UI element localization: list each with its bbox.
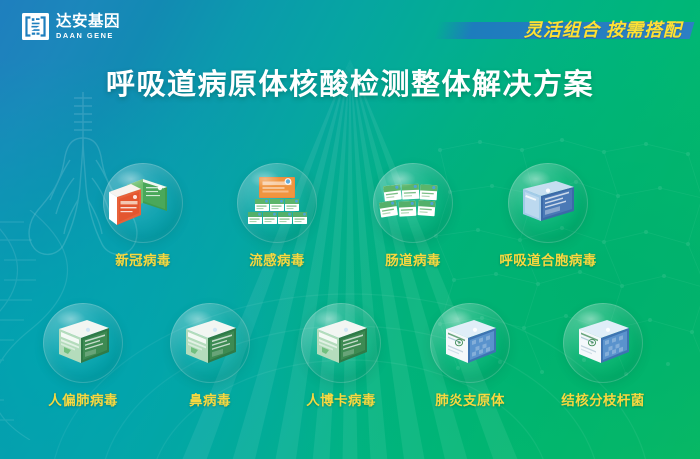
product-bubble [508,163,588,243]
product-label: 人偏肺病毒 [23,389,143,409]
product-label: 结核分枝杆菌 [543,389,663,409]
product-label: 新冠病毒 [83,249,203,269]
product-item-covid[interactable]: 新冠病毒 [83,163,203,269]
product-item-hmpv[interactable]: 人偏肺病毒 [23,303,143,409]
product-bubble [43,303,123,383]
product-box-covid-icon [107,167,179,239]
product-label: 肺炎支原体 [410,389,530,409]
poster-root: 达安基因 DAAN GENE 灵活组合 按需搭配 呼吸道病原体核酸检测整体解决方… [0,0,700,459]
product-box-rsv-icon [512,167,584,239]
product-box-enterovirus-icon [377,167,449,239]
product-label: 鼻病毒 [150,389,270,409]
product-bubble [170,303,250,383]
product-item-tuberculosis[interactable]: 结核分枝杆菌 [543,303,663,409]
product-bubble [103,163,183,243]
product-label: 人博卡病毒 [281,389,401,409]
product-box-rhinovirus-icon [174,307,246,379]
product-grid: 新冠病毒 [0,0,700,459]
product-item-influenza[interactable]: 流感病毒 [217,163,337,269]
product-item-bocavirus[interactable]: 人博卡病毒 [281,303,401,409]
product-box-influenza-icon [241,167,313,239]
product-bubble [301,303,381,383]
product-bubble [563,303,643,383]
product-box-mycoplasma-icon [434,307,506,379]
product-box-bocavirus-icon [305,307,377,379]
product-box-tuberculosis-icon [567,307,639,379]
product-bubble [373,163,453,243]
product-label: 流感病毒 [217,249,337,269]
product-bubble [237,163,317,243]
product-item-rsv[interactable]: 呼吸道合胞病毒 [488,163,608,269]
product-box-hmpv-icon [47,307,119,379]
product-item-mycoplasma[interactable]: 肺炎支原体 [410,303,530,409]
product-item-rhinovirus[interactable]: 鼻病毒 [150,303,270,409]
product-label: 肠道病毒 [353,249,473,269]
product-item-enterovirus[interactable]: 肠道病毒 [353,163,473,269]
product-label: 呼吸道合胞病毒 [488,249,608,269]
product-bubble [430,303,510,383]
